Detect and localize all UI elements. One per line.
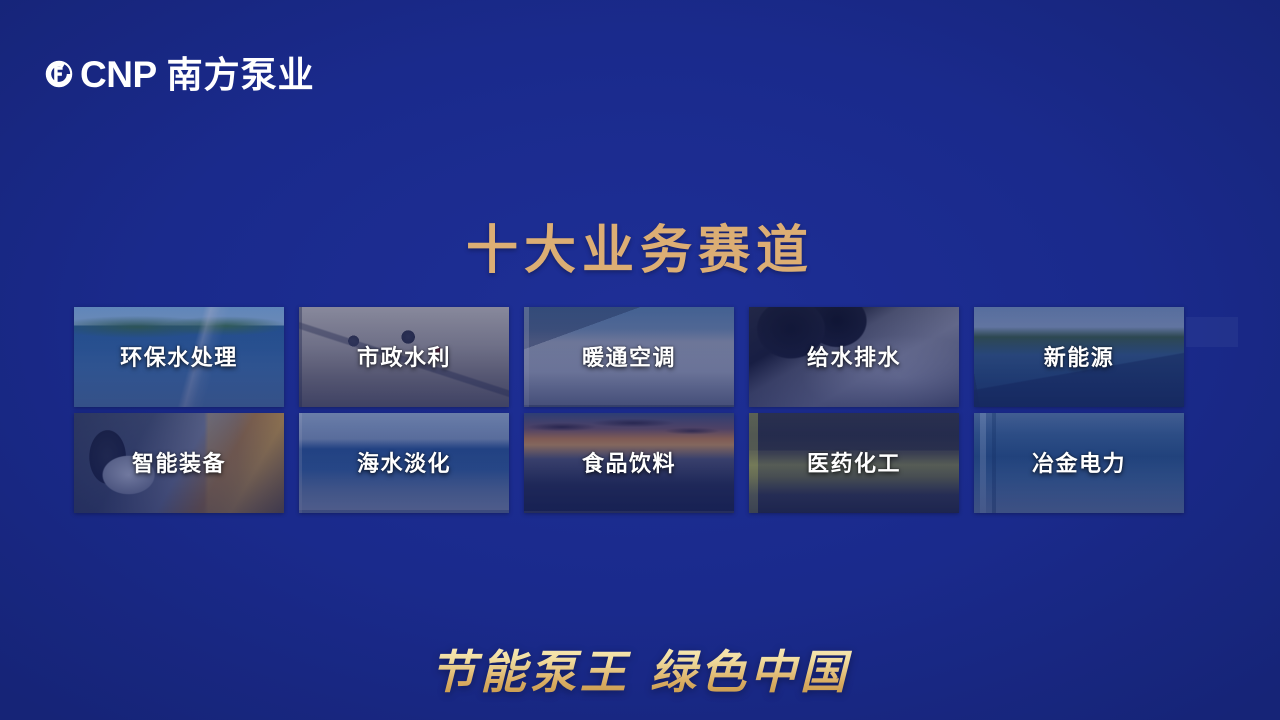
track-card-label: 新能源 — [974, 307, 1184, 407]
track-card-label: 环保水处理 — [74, 307, 284, 407]
track-card-5[interactable]: 新能源 — [974, 307, 1184, 407]
track-card-8[interactable]: 食品饮料 — [524, 413, 734, 513]
track-card-2[interactable]: 市政水利 — [299, 307, 509, 407]
track-card-6[interactable]: 智能装备 — [74, 413, 284, 513]
brand-logo: CNP 南方泵业 — [42, 52, 315, 96]
track-card-7[interactable]: 海水淡化 — [299, 413, 509, 513]
track-card-4[interactable]: 给水排水 — [749, 307, 959, 407]
presentation-slide: CNP 南方泵业 十大业务赛道 环保水处理 市政水利 暖通空调 给水排水 — [0, 0, 1280, 720]
brand-chinese-name: 南方泵业 — [167, 57, 315, 93]
cnp-circle-logo-icon — [42, 57, 76, 91]
page-title: 十大业务赛道 — [0, 208, 1280, 283]
track-card-9[interactable]: 医药化工 — [749, 413, 959, 513]
track-card-1[interactable]: 环保水处理 — [74, 307, 284, 407]
brand-latin-name: CNP — [80, 56, 157, 93]
track-card-label: 智能装备 — [74, 413, 284, 513]
business-tracks-grid: 环保水处理 市政水利 暖通空调 给水排水 新能源 智能装备 — [74, 307, 1207, 513]
track-card-label: 暖通空调 — [524, 307, 734, 407]
track-card-label: 海水淡化 — [299, 413, 509, 513]
track-card-10[interactable]: 冶金电力 — [974, 413, 1184, 513]
track-card-label: 食品饮料 — [524, 413, 734, 513]
track-card-3[interactable]: 暖通空调 — [524, 307, 734, 407]
track-card-label: 医药化工 — [749, 413, 959, 513]
footer-slogan: 节能泵王 绿色中国 — [0, 636, 1280, 702]
track-card-label: 市政水利 — [299, 307, 509, 407]
brand-wordmark: CNP 南方泵业 — [80, 56, 315, 93]
track-card-label: 冶金电力 — [974, 413, 1184, 513]
track-card-label: 给水排水 — [749, 307, 959, 407]
